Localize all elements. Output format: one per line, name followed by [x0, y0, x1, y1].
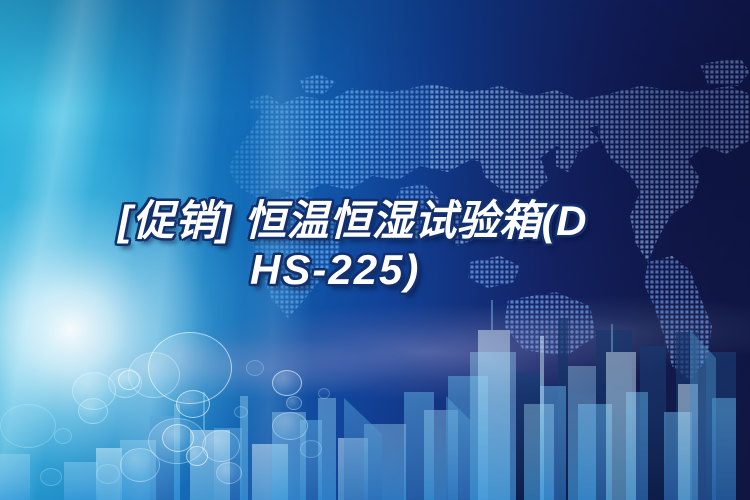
promo-banner: [促销] 恒温恒湿试验箱(D HS-225) [0, 0, 750, 500]
headline-line-2: HS-225) [118, 249, 718, 292]
headline-line-1: [促销] 恒温恒湿试验箱(D [118, 200, 718, 243]
banner-headline: [促销] 恒温恒湿试验箱(D HS-225) [118, 200, 718, 292]
